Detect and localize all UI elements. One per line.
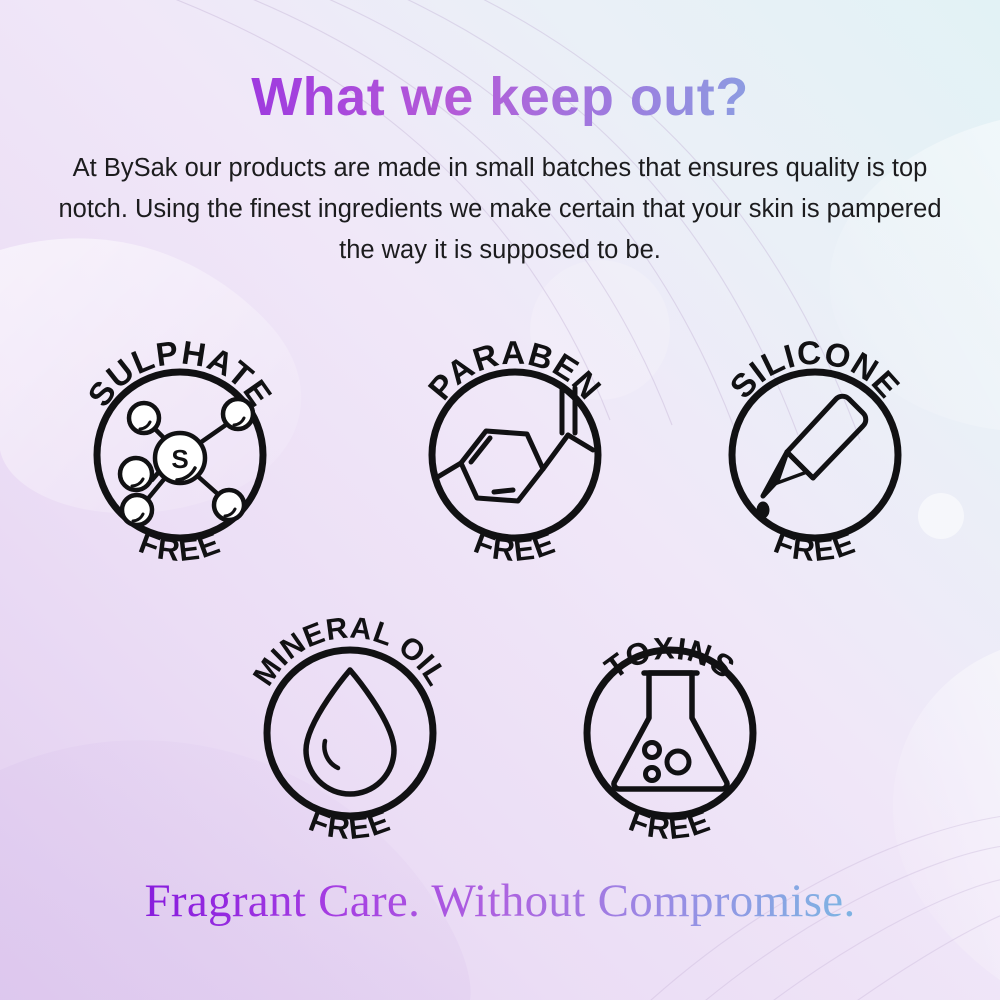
badge-mineral-oil-free: MINERAL OIL FREE [230, 578, 470, 848]
badge-sub-sulphate: FREE [134, 525, 225, 569]
badge-sub-toxins: FREE [624, 803, 715, 847]
badge-label-silicone: SILICONE [722, 333, 907, 405]
page-title: What we keep out? [0, 66, 1000, 128]
benzene-ring-icon [436, 388, 593, 501]
serum-tube-drop-icon [757, 396, 866, 518]
erlenmeyer-flask-icon [614, 673, 727, 789]
brand-tagline: Fragrant Care. Without Compromise. [0, 874, 1000, 928]
badge-sub-mineral-oil: FREE [304, 803, 395, 847]
water-droplet-icon [306, 670, 394, 794]
badge-label-paraben: PARABEN [421, 334, 609, 407]
badge-sub-silicone: FREE [769, 525, 860, 569]
badge-silicone-free: SILICONE FREE [695, 300, 935, 570]
sulphate-letter: S [171, 444, 188, 474]
intro-paragraph: At BySak our products are made in small … [55, 148, 945, 271]
badge-label-toxins: TOXINS [598, 630, 742, 685]
badge-sulphate-free: S SULPHATE FREE [60, 300, 300, 570]
badge-ring [267, 650, 433, 816]
badge-toxins-free: TOXINS FREE [550, 578, 790, 848]
badge-sub-paraben: FREE [469, 525, 560, 569]
badge-paraben-free: PARABEN FREE [395, 300, 635, 570]
